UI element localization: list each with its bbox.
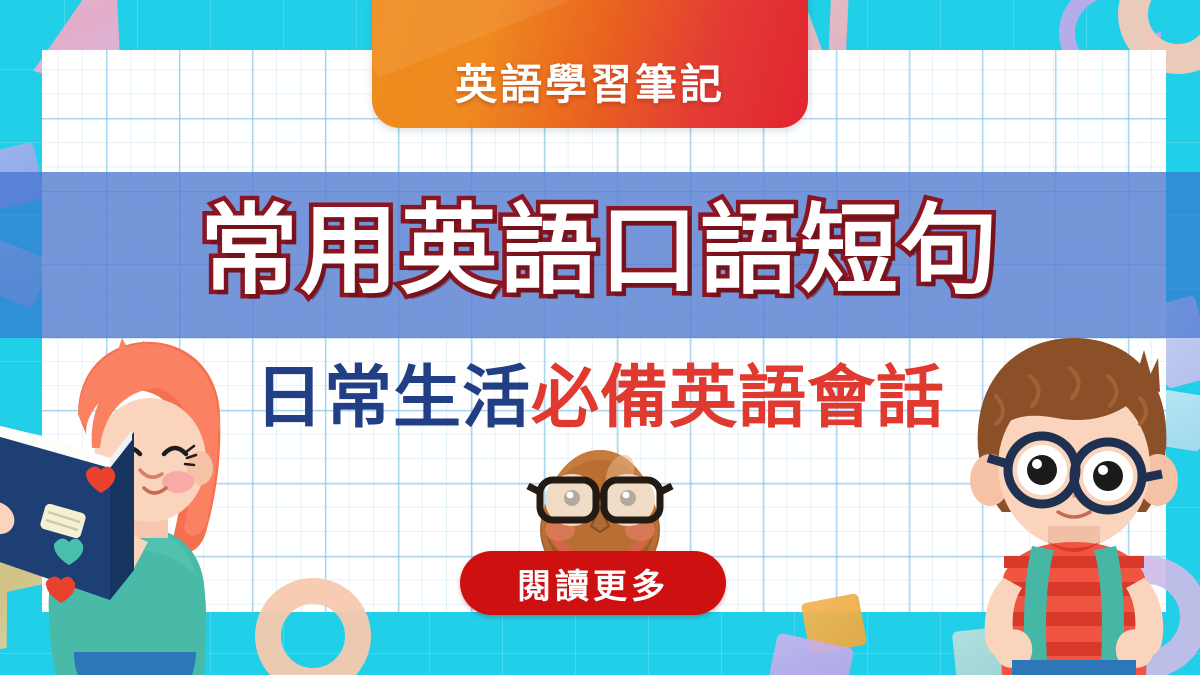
category-tab[interactable]: 英語學習筆記 xyxy=(372,0,808,128)
page-subtitle-part2: 必備英語會話 xyxy=(531,360,945,436)
girl-reading-illustration xyxy=(0,336,260,675)
read-more-button[interactable]: 閱讀更多 xyxy=(460,551,726,615)
banner-stage: ✦ 英語學習筆記 常用英語口語短句 日常生活必備英語會話 xyxy=(0,0,1200,675)
page-subtitle-part1: 日常生活 xyxy=(255,360,531,436)
boy-with-glasses-illustration xyxy=(948,330,1200,675)
page-title: 常用英語口語短句 xyxy=(0,188,1200,313)
category-tab-label: 英語學習筆記 xyxy=(455,51,725,112)
